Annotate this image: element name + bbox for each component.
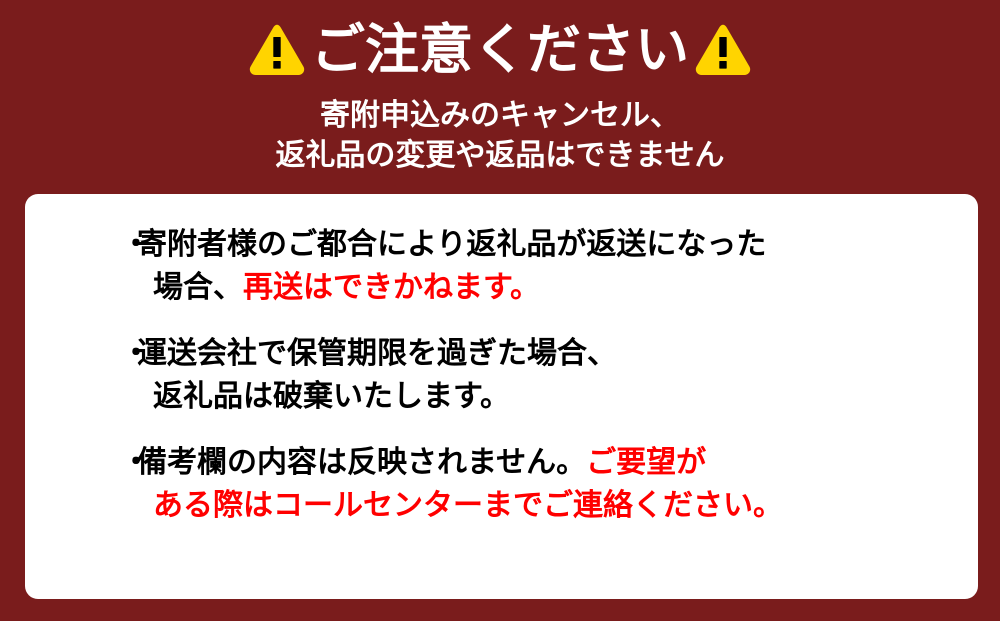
list-item-line: 返礼品は破棄いたします。 [137, 376, 978, 419]
title-row: ご注意ください [249, 14, 751, 86]
list-item-line: 場合、再送はできかねます。 [137, 267, 978, 310]
body-text: 場合、 [153, 271, 243, 304]
list-item: ・寄附者様のご都合により返礼品が返送になった場合、再送はできかねます。 [25, 224, 978, 309]
warning-triangle-icon [695, 24, 751, 76]
bullet-marker: ・ [121, 333, 151, 376]
subtitle-line-2: 返礼品の変更や返品はできません [275, 136, 724, 176]
notice-card: ・寄附者様のご都合により返礼品が返送になった場合、再送はできかねます。・運送会社… [25, 194, 978, 599]
body-text: 備考欄の内容は反映されません。 [137, 446, 586, 479]
list-item: ・運送会社で保管期限を過ぎた場合、返礼品は破棄いたします。 [25, 333, 978, 418]
list-item-line: 備考欄の内容は反映されません。ご要望が [137, 442, 978, 485]
subtitle-line-1: 寄附申込みのキャンセル、 [275, 96, 724, 136]
banner-subtitle: 寄附申込みのキャンセル、 返礼品の変更や返品はできません [275, 96, 724, 175]
page-title: ご注意ください [311, 23, 689, 77]
body-text: 返礼品は破棄いたします。 [153, 380, 510, 413]
emphasis-text: ご要望が [586, 446, 706, 479]
banner-header: ご注意ください 寄附申込みのキャンセル、 返礼品の変更や返品はできません [0, 0, 1000, 194]
list-item-line: 寄附者様のご都合により返礼品が返送になった [137, 224, 978, 267]
body-text: 運送会社で保管期限を過ぎた場合、 [137, 337, 617, 370]
bullet-marker: ・ [121, 442, 151, 485]
list-item-line: 運送会社で保管期限を過ぎた場合、 [137, 333, 978, 376]
emphasis-text: 再送はできかねます。 [243, 271, 540, 304]
warning-triangle-icon [249, 24, 305, 76]
body-text: 寄附者様のご都合により返礼品が返送になった [137, 228, 766, 261]
list-item: ・備考欄の内容は反映されません。ご要望がある際はコールセンターまでご連絡ください… [25, 442, 978, 527]
list-item-line: ある際はコールセンターまでご連絡ください。 [137, 485, 978, 528]
notice-banner: ご注意ください 寄附申込みのキャンセル、 返礼品の変更や返品はできません ・寄附… [0, 0, 1000, 621]
emphasis-text: ある際はコールセンターまでご連絡ください。 [153, 489, 783, 522]
bullet-marker: ・ [121, 224, 151, 267]
notice-list: ・寄附者様のご都合により返礼品が返送になった場合、再送はできかねます。・運送会社… [25, 224, 978, 528]
